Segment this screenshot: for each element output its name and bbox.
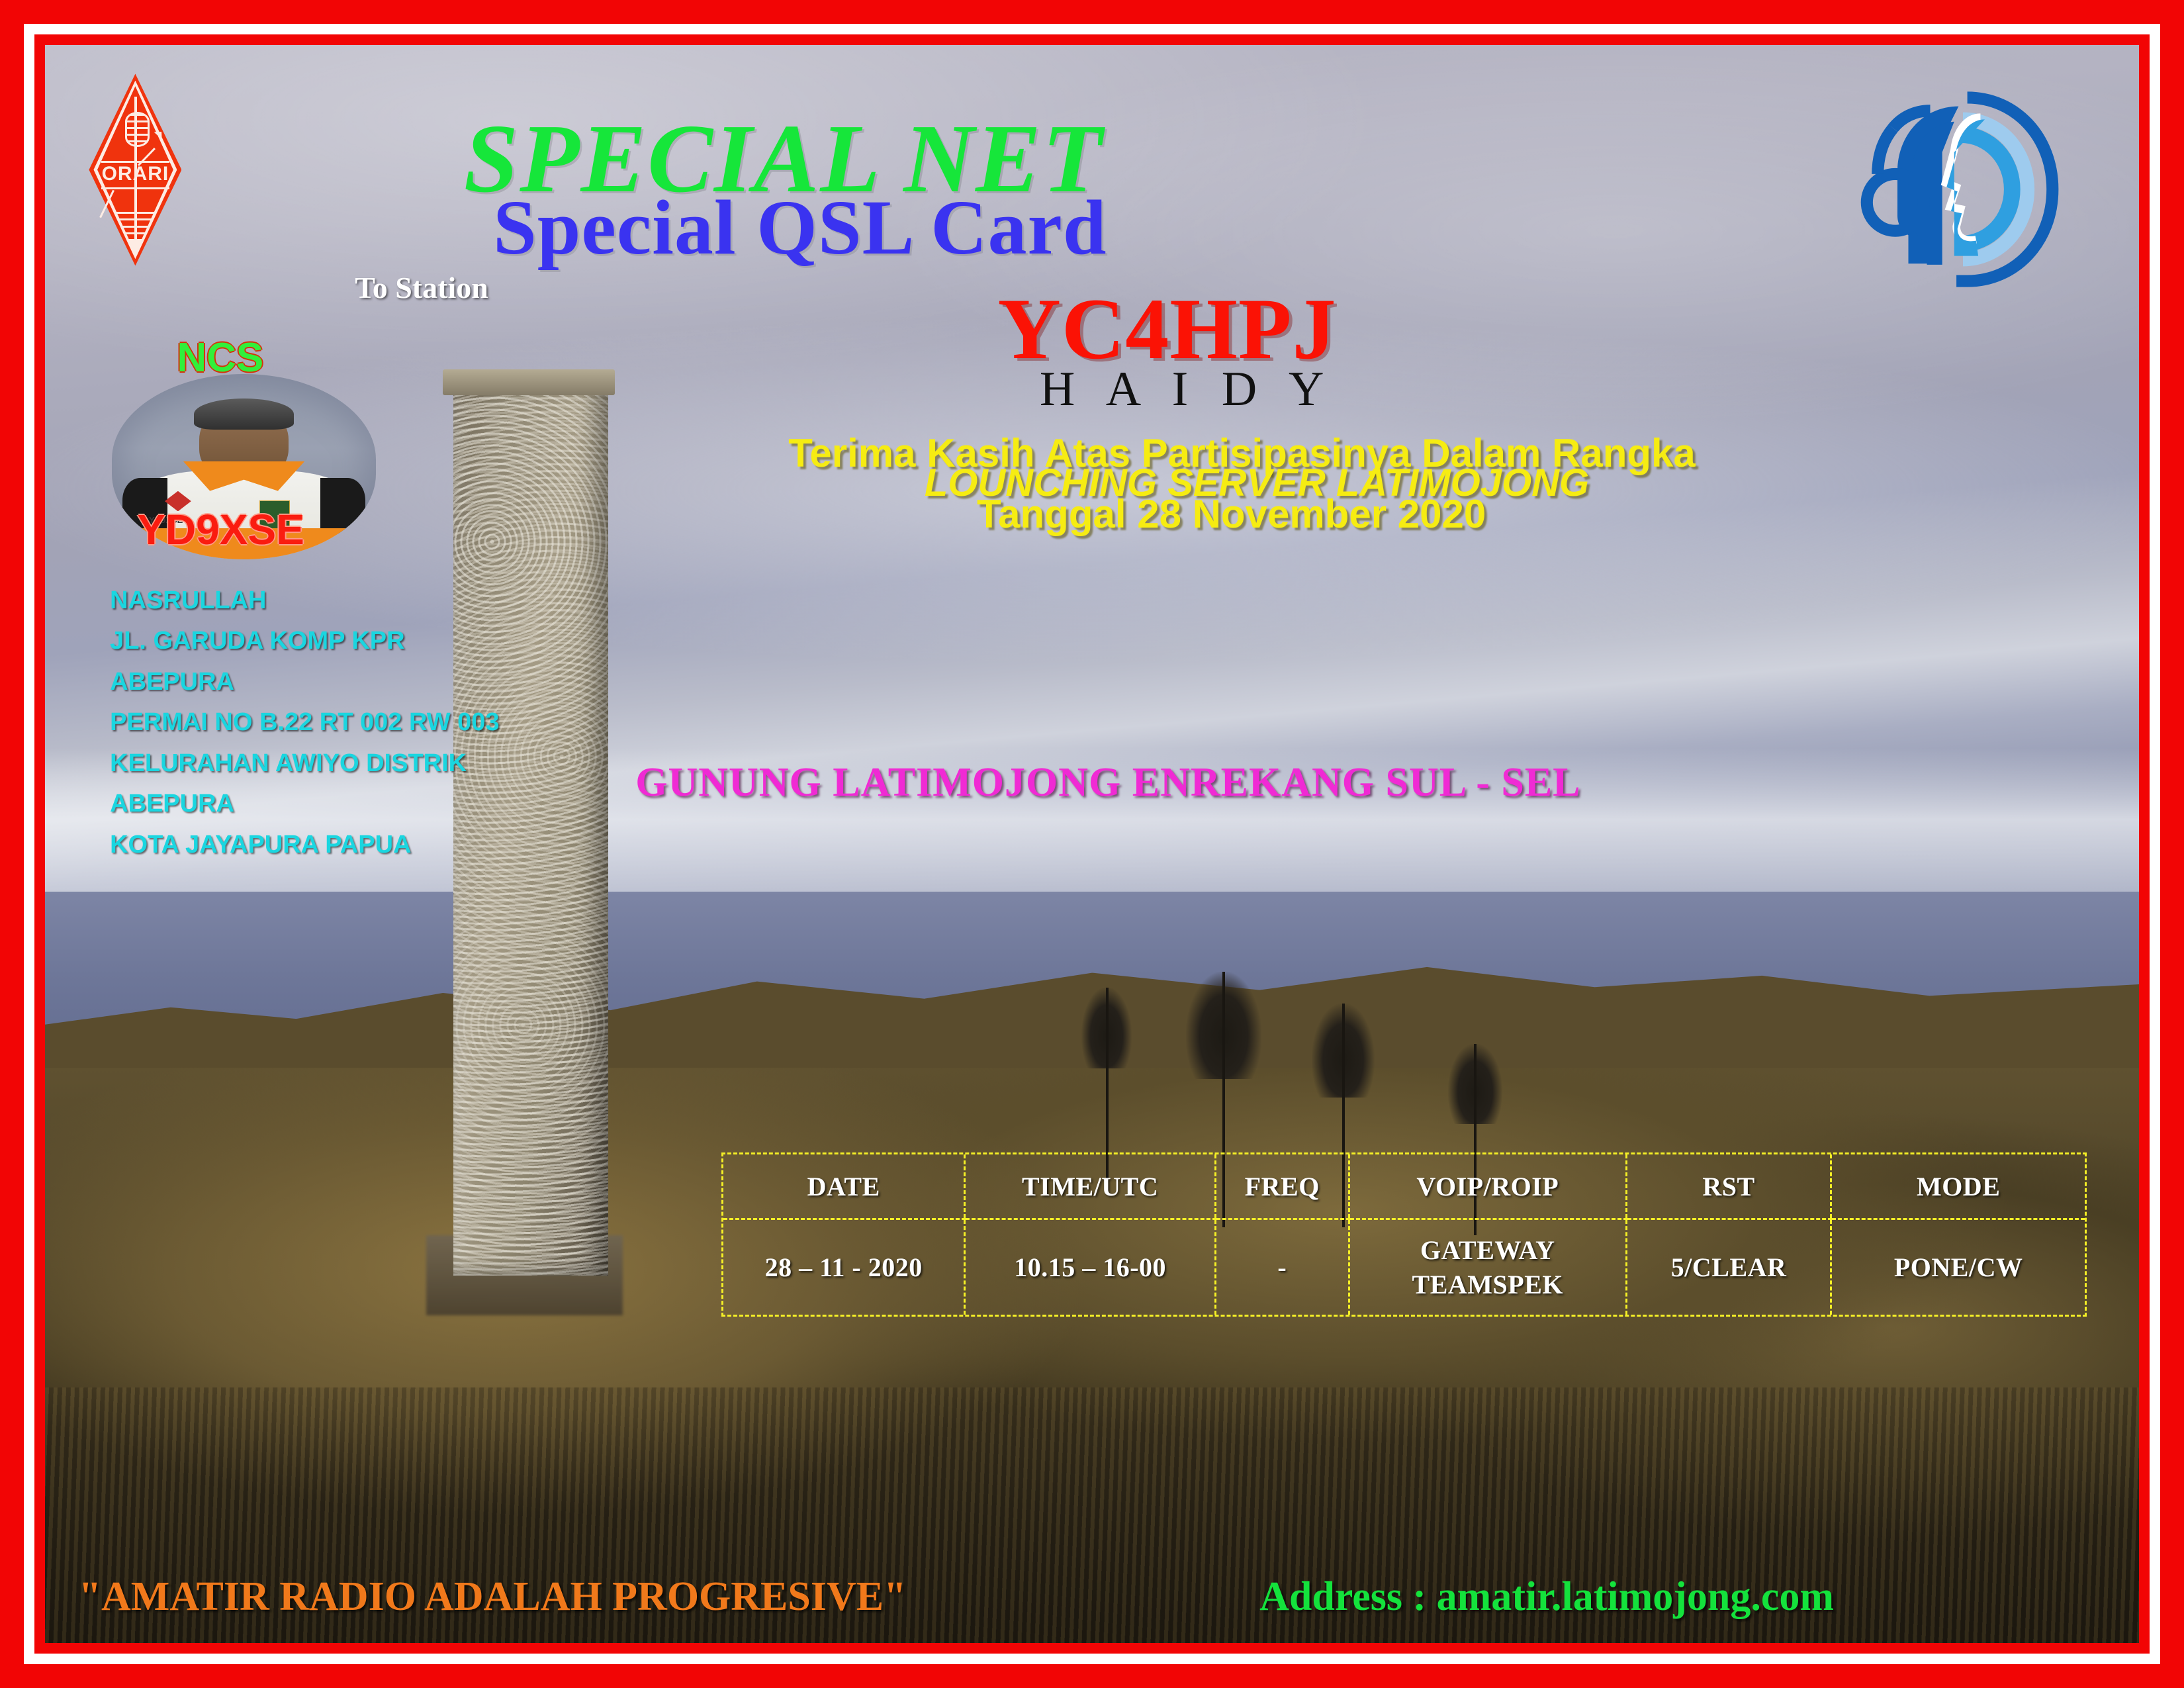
table-header-freq: FREQ [1215,1154,1349,1219]
address-line: PERMAI NO B.22 RT 002 RW 003 [110,702,499,743]
card-background-photo: ORARI SPECIAL NET Special QSL Card [45,45,2139,1643]
mountain-caption: GUNUNG LATIMOJONG ENREKANG SUL - SEL [635,759,1580,806]
table-header-voip-roip: VOIP/ROIP [1349,1154,1626,1219]
address-line: JL. GARUDA KOMP KPR [110,621,499,662]
to-station-label: To Station [355,270,488,305]
address-line: KOTA JAYAPURA PAPUA [110,825,499,866]
table-header-mode: MODE [1831,1154,2085,1219]
footer-motto: "AMATIR RADIO ADALAH PROGRESIVE" [79,1573,907,1620]
address-line: NASRULLAH [110,581,499,622]
address-line: KELURAHAN AWIYO DISTRIK [110,743,499,784]
table-cell: GATEWAYTEAMSPEK [1349,1219,1626,1315]
table-header-row: DATETIME/UTCFREQVOIP/ROIPRSTMODE [723,1154,2085,1219]
table-row: 28 – 11 - 202010.15 – 16-00-GATEWAYTEAMS… [723,1219,2085,1315]
table-cell: 10.15 – 16-00 [965,1219,1216,1315]
address-line: ABEPURA [110,662,499,703]
station-operator-name: H A I D Y [1040,361,1335,418]
headphone-head-icon [1854,80,2072,299]
table-header-rst: RST [1626,1154,1831,1219]
monument-cap [443,369,614,395]
footer-web-address: Address : amatir.latimojong.com [1259,1573,1834,1620]
operator-callsign: YD9XSE [137,505,304,554]
qsl-card: ORARI SPECIAL NET Special QSL Card [0,0,2184,1688]
table-cell: 5/CLEAR [1626,1219,1831,1315]
table-header-date: DATE [723,1154,965,1219]
mailing-address-block: NASRULLAHJL. GARUDA KOMP KPRABEPURAPERMA… [110,581,499,866]
table-cell: - [1215,1219,1349,1315]
thanks-line-3: Tanggal 28 November 2020 [977,491,1486,537]
table-cell: 28 – 11 - 2020 [723,1219,965,1315]
table-cell: PONE/CW [1831,1219,2085,1315]
table-header-time-utc: TIME/UTC [965,1154,1216,1219]
orari-logo-label: ORARI [89,163,181,185]
orari-logo: ORARI [89,73,181,265]
page-subtitle: Special QSL Card [493,183,1107,273]
qso-details-table: DATETIME/UTCFREQVOIP/ROIPRSTMODE 28 – 11… [721,1152,2087,1317]
tree [1081,988,1132,1180]
address-line: ABEPURA [110,784,499,825]
